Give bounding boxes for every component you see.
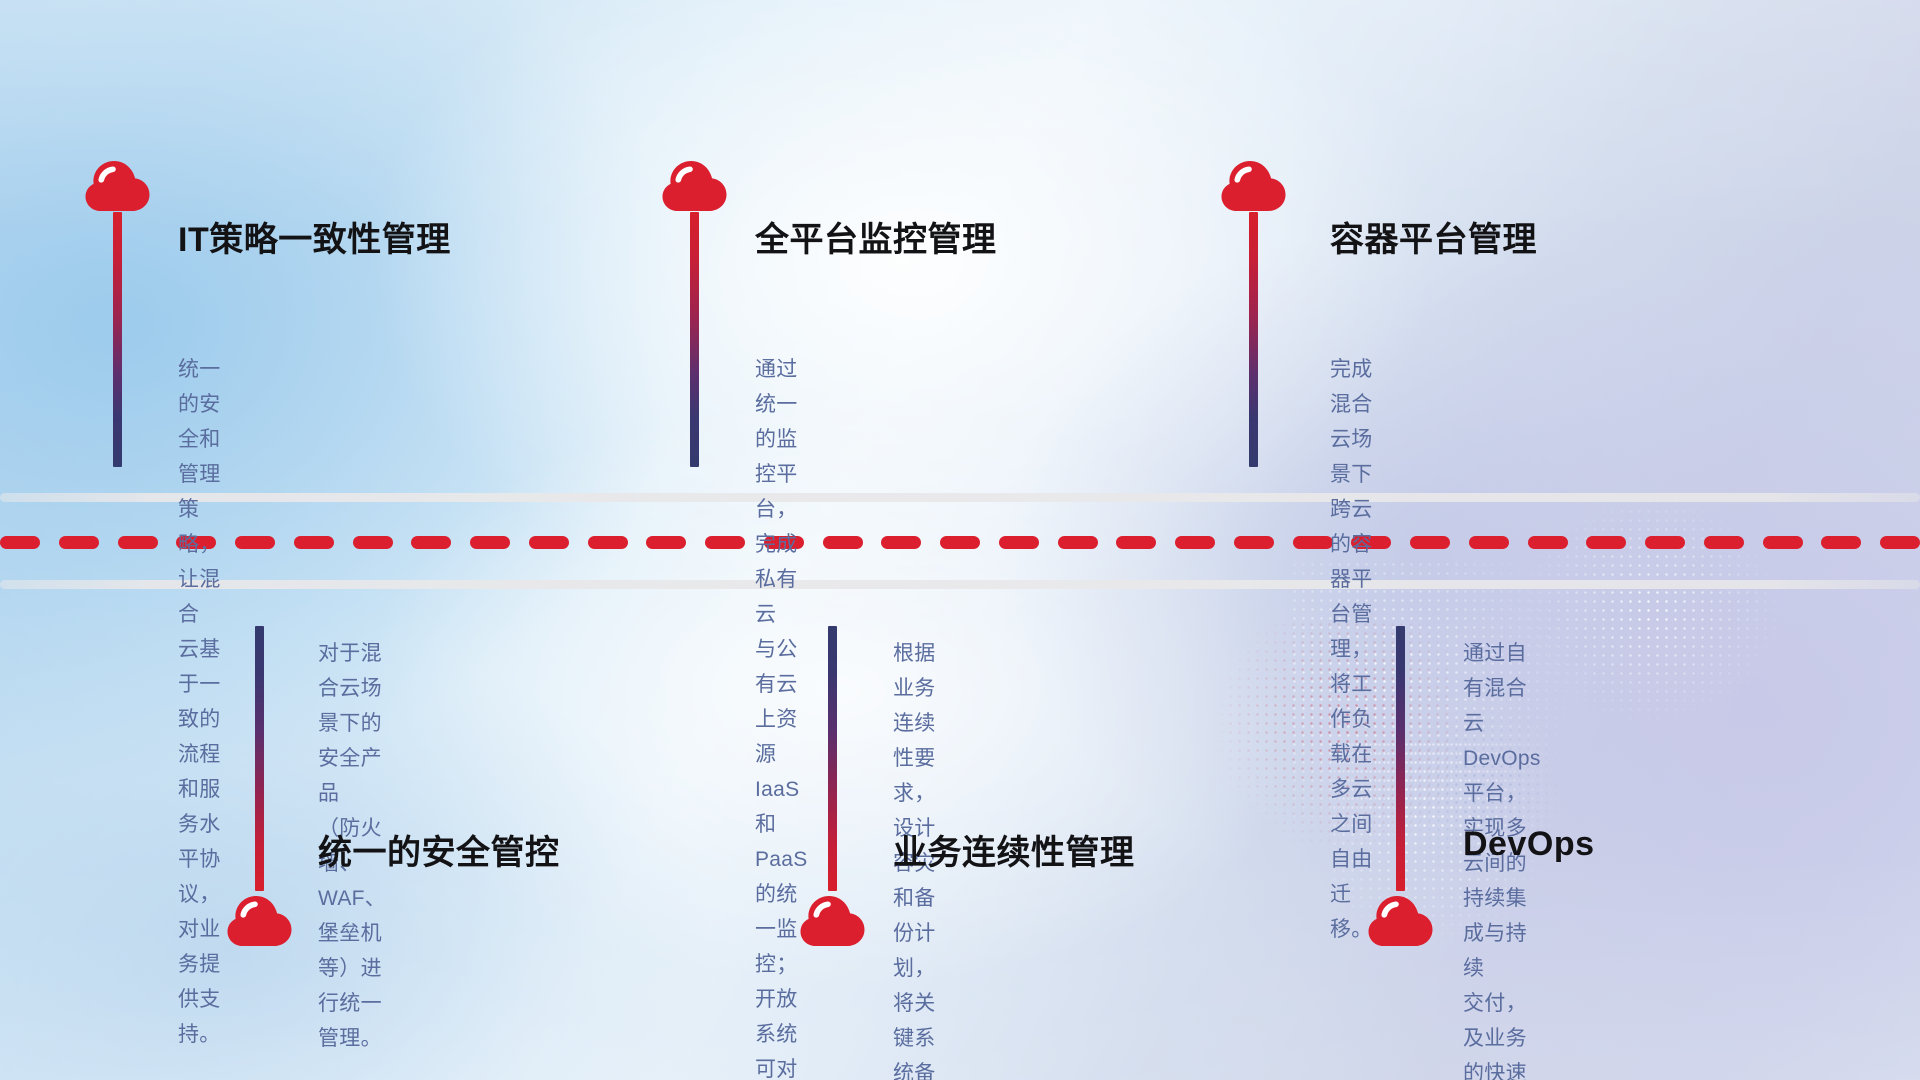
divider-dash <box>1528 536 1568 549</box>
card-heading: 容器平台管理 <box>1330 212 1537 261</box>
stem-line <box>113 212 122 467</box>
cloud-icon <box>227 895 293 947</box>
divider-dash <box>235 536 275 549</box>
card-heading: 统一的安全管控 <box>318 825 560 874</box>
card-heading: 业务连续性管理 <box>893 825 1135 874</box>
stem-line <box>1396 626 1405 891</box>
divider-dash <box>881 536 921 549</box>
divider-rail-bottom <box>0 580 1920 589</box>
divider-dashed-line <box>0 535 1920 549</box>
divider-dash <box>1763 536 1803 549</box>
stem-line <box>690 212 699 467</box>
divider-dash <box>1880 536 1920 549</box>
halftone-dots-red <box>1190 620 1450 880</box>
card-body: 完成混合云场景下跨云的容器平 台管理，将工作负载在多云之间 自由迁移。 <box>1330 352 1373 947</box>
divider-dash <box>353 536 393 549</box>
divider-dash <box>0 536 40 549</box>
divider-dash <box>1821 536 1861 549</box>
cloud-icon <box>1221 160 1287 212</box>
divider-dash <box>999 536 1039 549</box>
cloud-icon <box>1368 895 1434 947</box>
card-heading: 全平台监控管理 <box>755 212 997 261</box>
stem-line <box>1249 212 1258 467</box>
divider-dash <box>1234 536 1274 549</box>
infographic-canvas: IT策略一致性管理 统一的安全和管理策略，让混合 云基于一致的流程和服务水平协 … <box>0 0 1920 1080</box>
divider-dash <box>1116 536 1156 549</box>
divider-dash <box>1586 536 1626 549</box>
card-body: 统一的安全和管理策略，让混合 云基于一致的流程和服务水平协 议，对业务提供支持。 <box>178 352 221 1052</box>
divider-dash <box>1293 536 1333 549</box>
cloud-icon <box>662 160 728 212</box>
card-heading: DevOps <box>1463 825 1595 864</box>
cloud-icon <box>85 160 151 212</box>
divider-dash <box>1645 536 1685 549</box>
divider-dash <box>1410 536 1450 549</box>
divider-dash <box>705 536 745 549</box>
divider-dash <box>1058 536 1098 549</box>
divider-dash <box>646 536 686 549</box>
divider-dash <box>294 536 334 549</box>
stem-line <box>255 626 264 891</box>
divider-dash <box>1469 536 1509 549</box>
divider-dash <box>118 536 158 549</box>
stem-line <box>828 626 837 891</box>
divider-dash <box>823 536 863 549</box>
divider-dash <box>59 536 99 549</box>
divider-dash <box>940 536 980 549</box>
halftone-dots-white-c <box>1500 480 1800 740</box>
divider-dash <box>529 536 569 549</box>
card-heading: IT策略一致性管理 <box>178 212 451 261</box>
card-body: 通过统一的监控平台，完成私有云 与公有云上资源IaaS和PaaS的统 一监控；开… <box>755 352 808 1080</box>
divider-dash <box>588 536 628 549</box>
cloud-icon <box>800 895 866 947</box>
divider-rail-top <box>0 493 1920 502</box>
divider-dash <box>470 536 510 549</box>
divider-dash <box>411 536 451 549</box>
divider-dash <box>1175 536 1215 549</box>
divider-dash <box>1704 536 1744 549</box>
